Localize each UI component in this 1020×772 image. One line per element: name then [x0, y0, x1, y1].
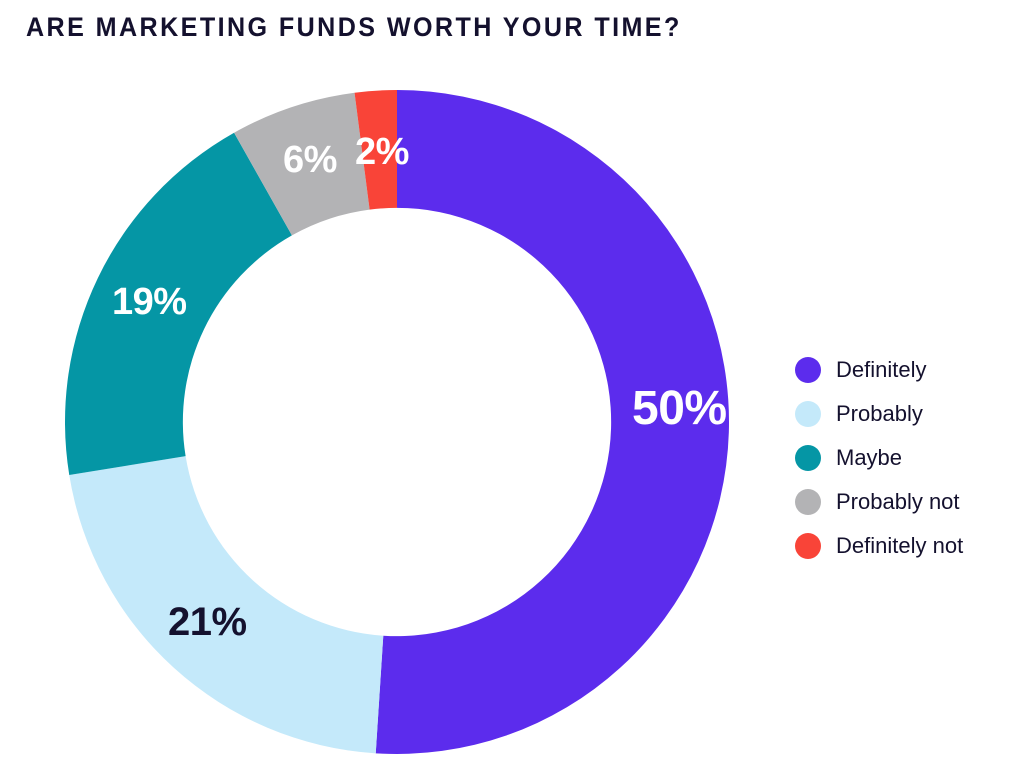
slice-value-probably-not: 6% [283, 139, 337, 182]
legend-label: Definitely [836, 357, 926, 383]
legend-item-probably[interactable]: Probably [795, 392, 1010, 436]
legend-swatch-icon [795, 401, 821, 427]
slice-value-definitely-not: 2% [355, 131, 409, 174]
slice-value-probably: 21% [168, 600, 247, 645]
legend-item-maybe[interactable]: Maybe [795, 436, 1010, 480]
legend-label: Maybe [836, 445, 902, 471]
page-title: ARE MARKETING FUNDS WORTH YOUR TIME? [26, 12, 682, 43]
legend-swatch-icon [795, 533, 821, 559]
legend-swatch-icon [795, 357, 821, 383]
legend-swatch-icon [795, 445, 821, 471]
legend-item-definitely-not[interactable]: Definitely not [795, 524, 1010, 568]
chart-page: ARE MARKETING FUNDS WORTH YOUR TIME? 50%… [0, 0, 1020, 772]
chart-legend: Definitely Probably Maybe Probably not D… [795, 348, 1010, 568]
legend-item-probably-not[interactable]: Probably not [795, 480, 1010, 524]
donut-chart-svg [65, 90, 729, 754]
slice-value-maybe: 19% [112, 281, 187, 324]
donut-slices [65, 90, 729, 754]
slice-value-definitely: 50% [632, 381, 727, 436]
legend-swatch-icon [795, 489, 821, 515]
legend-label: Probably [836, 401, 923, 427]
legend-label: Probably not [836, 489, 960, 515]
legend-item-definitely[interactable]: Definitely [795, 348, 1010, 392]
donut-chart [65, 90, 729, 754]
legend-label: Definitely not [836, 533, 963, 559]
